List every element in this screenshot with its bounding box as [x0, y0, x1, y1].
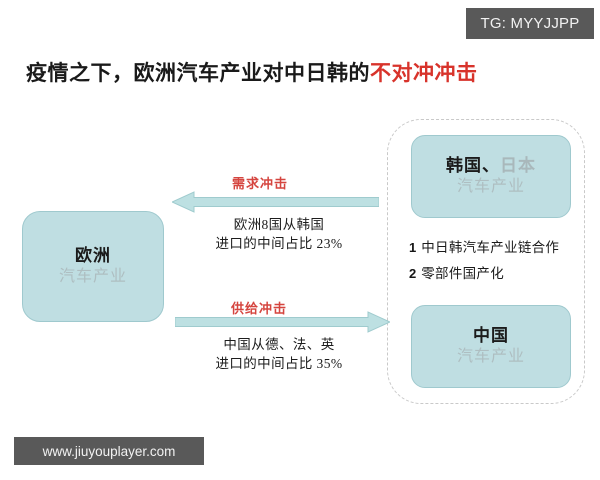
node-japan-label: 日本: [500, 156, 536, 175]
list-item-number: 2: [409, 266, 416, 281]
list-item-label: 零部件国产化: [421, 262, 504, 282]
node-korea-japan-secondary-label: 汽车产业: [457, 177, 525, 197]
flow-caption-demand-line1: 欧洲8国从韩国: [199, 216, 359, 235]
node-europe[interactable]: 欧洲 汽车产业: [22, 211, 164, 322]
flow-caption-demand-shock: 欧洲8国从韩国 进口的中间占比 23%: [199, 216, 359, 254]
flow-caption-demand-line2: 进口的中间占比 23%: [199, 235, 359, 254]
node-korea-japan-primary-label: 韩国、日本: [446, 155, 536, 177]
list-item-number: 1: [409, 240, 416, 255]
node-europe-primary-label: 欧洲: [75, 245, 111, 267]
slide-title-lead: 疫情之下，欧洲汽车产业对中日韩的: [26, 61, 370, 85]
flow-label-supply-shock: 供给冲击: [231, 298, 287, 317]
site-watermark-badge: www.jiuyouplayer.com: [14, 437, 204, 465]
slide-canvas: TG: MYYJJPP 疫情之下，欧洲汽车产业对中日韩的不对冲冲击 欧洲 汽车产…: [0, 0, 600, 480]
slide-title: 疫情之下，欧洲汽车产业对中日韩的不对冲冲击: [26, 57, 478, 87]
node-china-secondary-label: 汽车产业: [457, 347, 525, 367]
asia-group-list: 1 中日韩汽车产业链合作 2 零部件国产化: [409, 236, 584, 288]
flow-label-demand-shock: 需求冲击: [232, 173, 288, 192]
node-china[interactable]: 中国 汽车产业: [411, 305, 571, 388]
flow-caption-supply-shock: 中国从德、法、英 进口的中间占比 35%: [199, 336, 359, 374]
site-watermark-text: www.jiuyouplayer.com: [43, 444, 176, 459]
node-korea-label: 韩国、: [446, 156, 500, 175]
list-item-label: 中日韩汽车产业链合作: [421, 236, 559, 256]
list-item: 2 零部件国产化: [409, 262, 584, 282]
telegram-watermark-text: TG: MYYJJPP: [481, 15, 580, 32]
flow-arrow-demand-shock: [172, 191, 379, 213]
node-korea-japan[interactable]: 韩国、日本 汽车产业: [411, 135, 571, 218]
node-china-primary-label: 中国: [473, 325, 509, 347]
flow-caption-supply-line1: 中国从德、法、英: [199, 336, 359, 355]
slide-title-accent: 不对冲冲击: [370, 61, 478, 85]
list-item: 1 中日韩汽车产业链合作: [409, 236, 584, 256]
flow-caption-supply-line2: 进口的中间占比 35%: [199, 355, 359, 374]
node-europe-secondary-label: 汽车产业: [59, 267, 127, 287]
telegram-watermark-badge: TG: MYYJJPP: [466, 8, 594, 39]
left-arrow-icon: [172, 191, 379, 213]
